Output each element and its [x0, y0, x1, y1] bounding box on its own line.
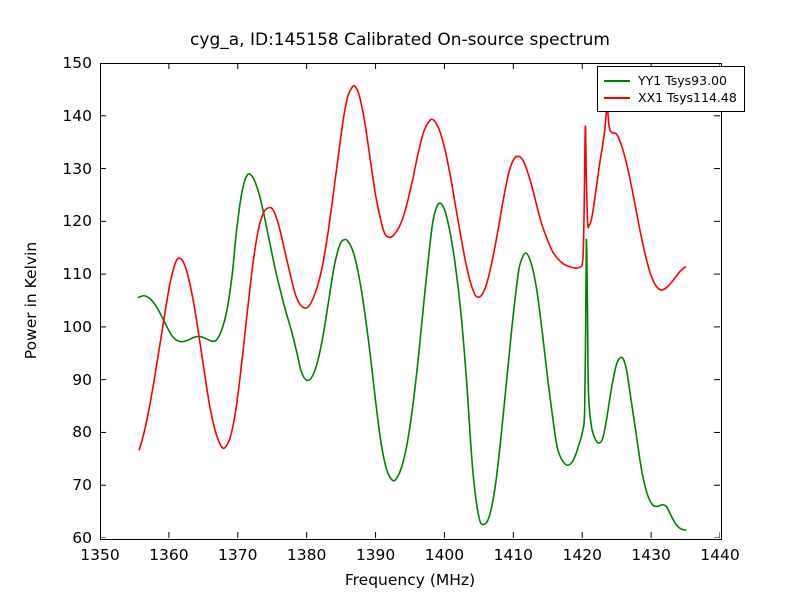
legend-item-0: YY1 Tsys93.00 — [604, 72, 737, 89]
legend-item-1: XX1 Tsys114.48 — [604, 89, 737, 106]
y-axis-label: Power in Kelvin — [22, 63, 44, 538]
x-axis-label: Frequency (MHz) — [100, 571, 720, 589]
x-axis-tick-labels: 1350136013701380139014001410142014301440 — [100, 546, 720, 570]
page-title: cyg_a, ID:145158 Calibrated On-source sp… — [0, 30, 800, 50]
legend-label: YY1 Tsys93.00 — [638, 72, 727, 89]
x-tick-label: 1440 — [680, 546, 760, 564]
legend-label: XX1 Tsys114.48 — [638, 89, 737, 106]
legend-color-swatch — [604, 80, 630, 82]
legend: YY1 Tsys93.00XX1 Tsys114.48 — [597, 66, 745, 112]
legend-color-swatch — [604, 97, 630, 99]
plot-axes-frame — [100, 63, 722, 540]
spectrum-figure: cyg_a, ID:145158 Calibrated On-source sp… — [0, 0, 800, 600]
